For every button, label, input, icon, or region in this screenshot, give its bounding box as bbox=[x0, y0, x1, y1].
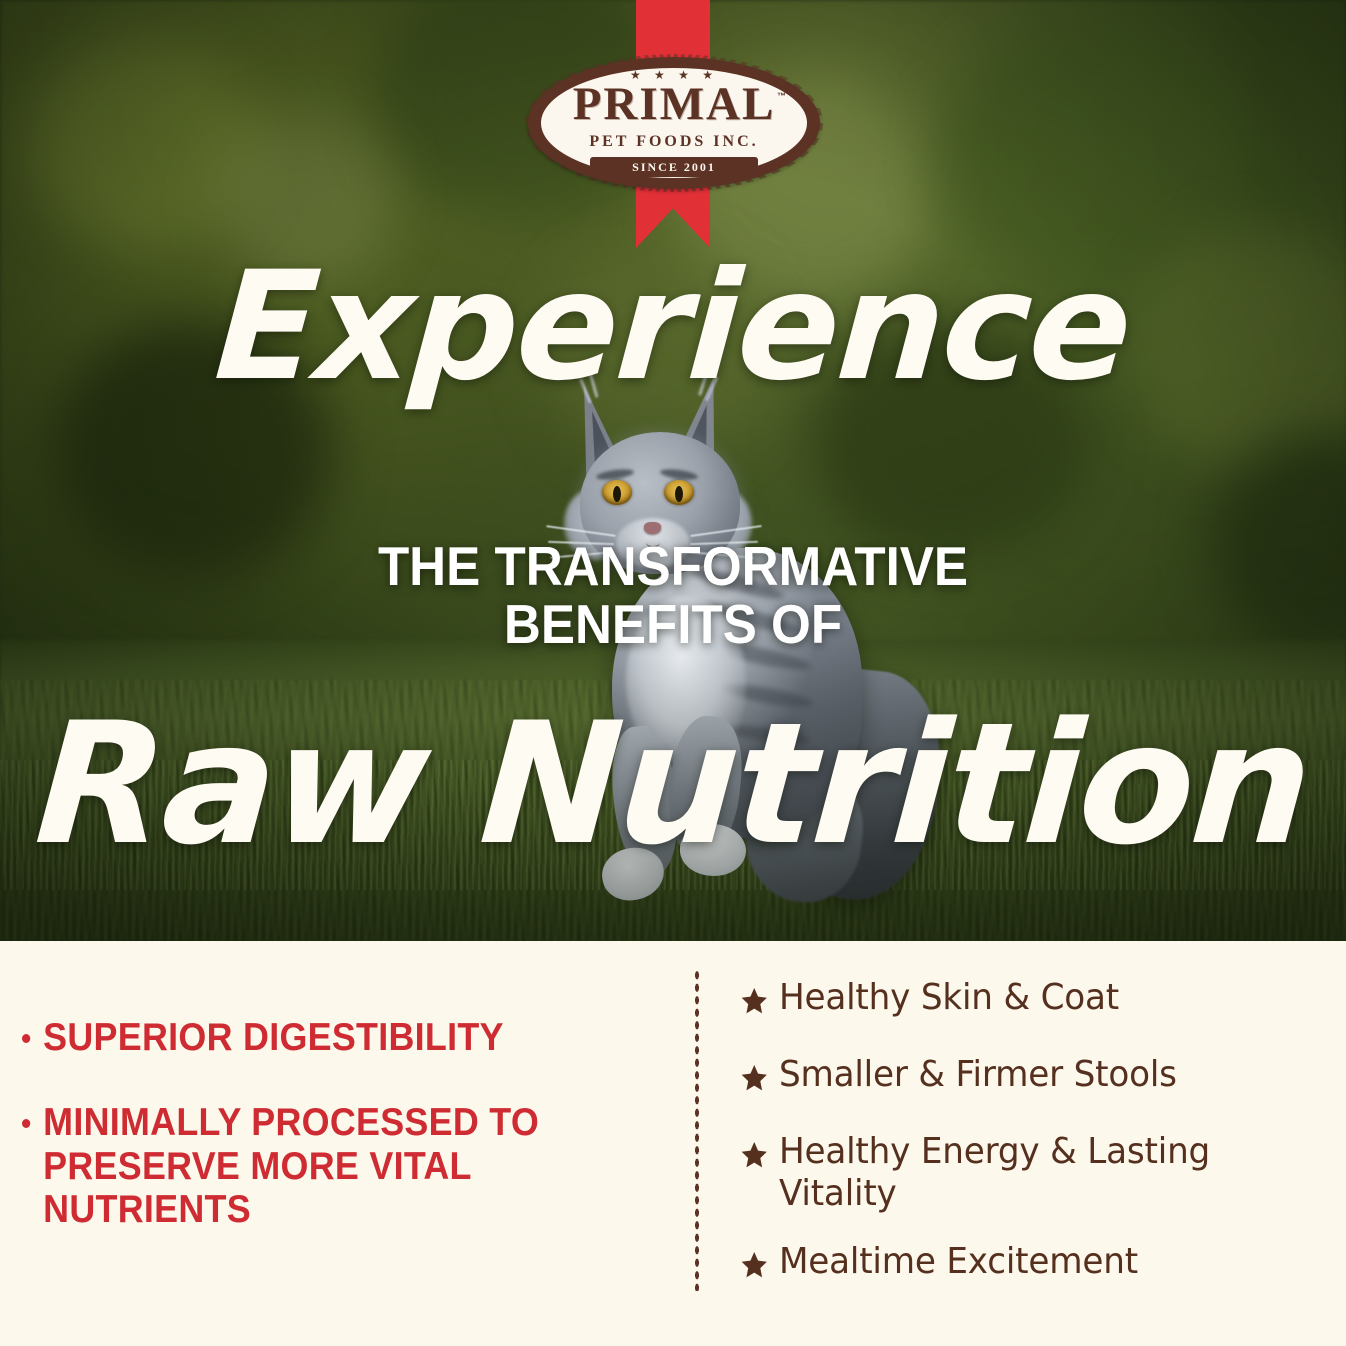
benefits-panel: SUPERIOR DIGESTIBILITY MINIMALLY PROCESS… bbox=[0, 941, 1346, 1346]
dot-bullet-icon bbox=[22, 1034, 30, 1043]
primal-logo: ★ ★ ★ ★ PRIMAL ™ PET FOODS INC. SINCE 20… bbox=[528, 57, 820, 189]
logo-since-band: SINCE 2001 bbox=[590, 157, 758, 177]
star-bullet-icon bbox=[740, 1138, 769, 1168]
benefit-item-brown: Mealtime Excitement bbox=[740, 1241, 1329, 1283]
star-bullet-icon bbox=[740, 1061, 769, 1091]
subhead-line-1: THE TRANSFORMATIVE bbox=[47, 537, 1299, 595]
benefit-item-brown: Smaller & Firmer Stools bbox=[740, 1054, 1329, 1096]
benefit-item-red: SUPERIOR DIGESTIBILITY bbox=[22, 1016, 666, 1060]
benefits-right-column: Healthy Skin & Coat Smaller & Firmer Sto… bbox=[740, 941, 1346, 1346]
headline-raw-nutrition: Raw Nutrition bbox=[0, 700, 1346, 868]
benefit-label: Healthy Energy & Lasting Vitality bbox=[779, 1131, 1329, 1216]
benefit-label: SUPERIOR DIGESTIBILITY bbox=[43, 1016, 504, 1060]
primal-pet-foods-poster: ★ ★ ★ ★ PRIMAL ™ PET FOODS INC. SINCE 20… bbox=[0, 0, 1346, 1346]
benefit-label: Mealtime Excitement bbox=[779, 1241, 1138, 1283]
headline-experience: Experience bbox=[0, 252, 1346, 402]
benefit-label: Healthy Skin & Coat bbox=[779, 977, 1119, 1019]
subhead-line-2: BENEFITS OF bbox=[47, 595, 1299, 653]
headline-subhead: THE TRANSFORMATIVE BENEFITS OF bbox=[47, 537, 1299, 654]
star-bullet-icon bbox=[740, 1248, 769, 1278]
benefit-item-brown: Healthy Energy & Lasting Vitality bbox=[740, 1131, 1329, 1216]
hero-photo: ★ ★ ★ ★ PRIMAL ™ PET FOODS INC. SINCE 20… bbox=[0, 0, 1346, 941]
logo-wordmark: PRIMAL bbox=[528, 81, 820, 128]
logo-since-text: SINCE 2001 bbox=[632, 161, 716, 173]
dotted-divider bbox=[694, 969, 700, 1291]
logo-subtitle: PET FOODS INC. bbox=[528, 134, 820, 150]
benefits-left-column: SUPERIOR DIGESTIBILITY MINIMALLY PROCESS… bbox=[0, 941, 670, 1346]
benefit-item-red: MINIMALLY PROCESSED TO PRESERVE MORE VIT… bbox=[22, 1101, 675, 1232]
dot-bullet-icon bbox=[22, 1119, 30, 1128]
star-bullet-icon bbox=[740, 984, 769, 1014]
benefit-label: Smaller & Firmer Stools bbox=[779, 1054, 1177, 1096]
benefit-item-brown: Healthy Skin & Coat bbox=[740, 977, 1329, 1019]
trademark-icon: ™ bbox=[777, 91, 786, 101]
benefit-label: MINIMALLY PROCESSED TO PRESERVE MORE VIT… bbox=[43, 1101, 675, 1232]
